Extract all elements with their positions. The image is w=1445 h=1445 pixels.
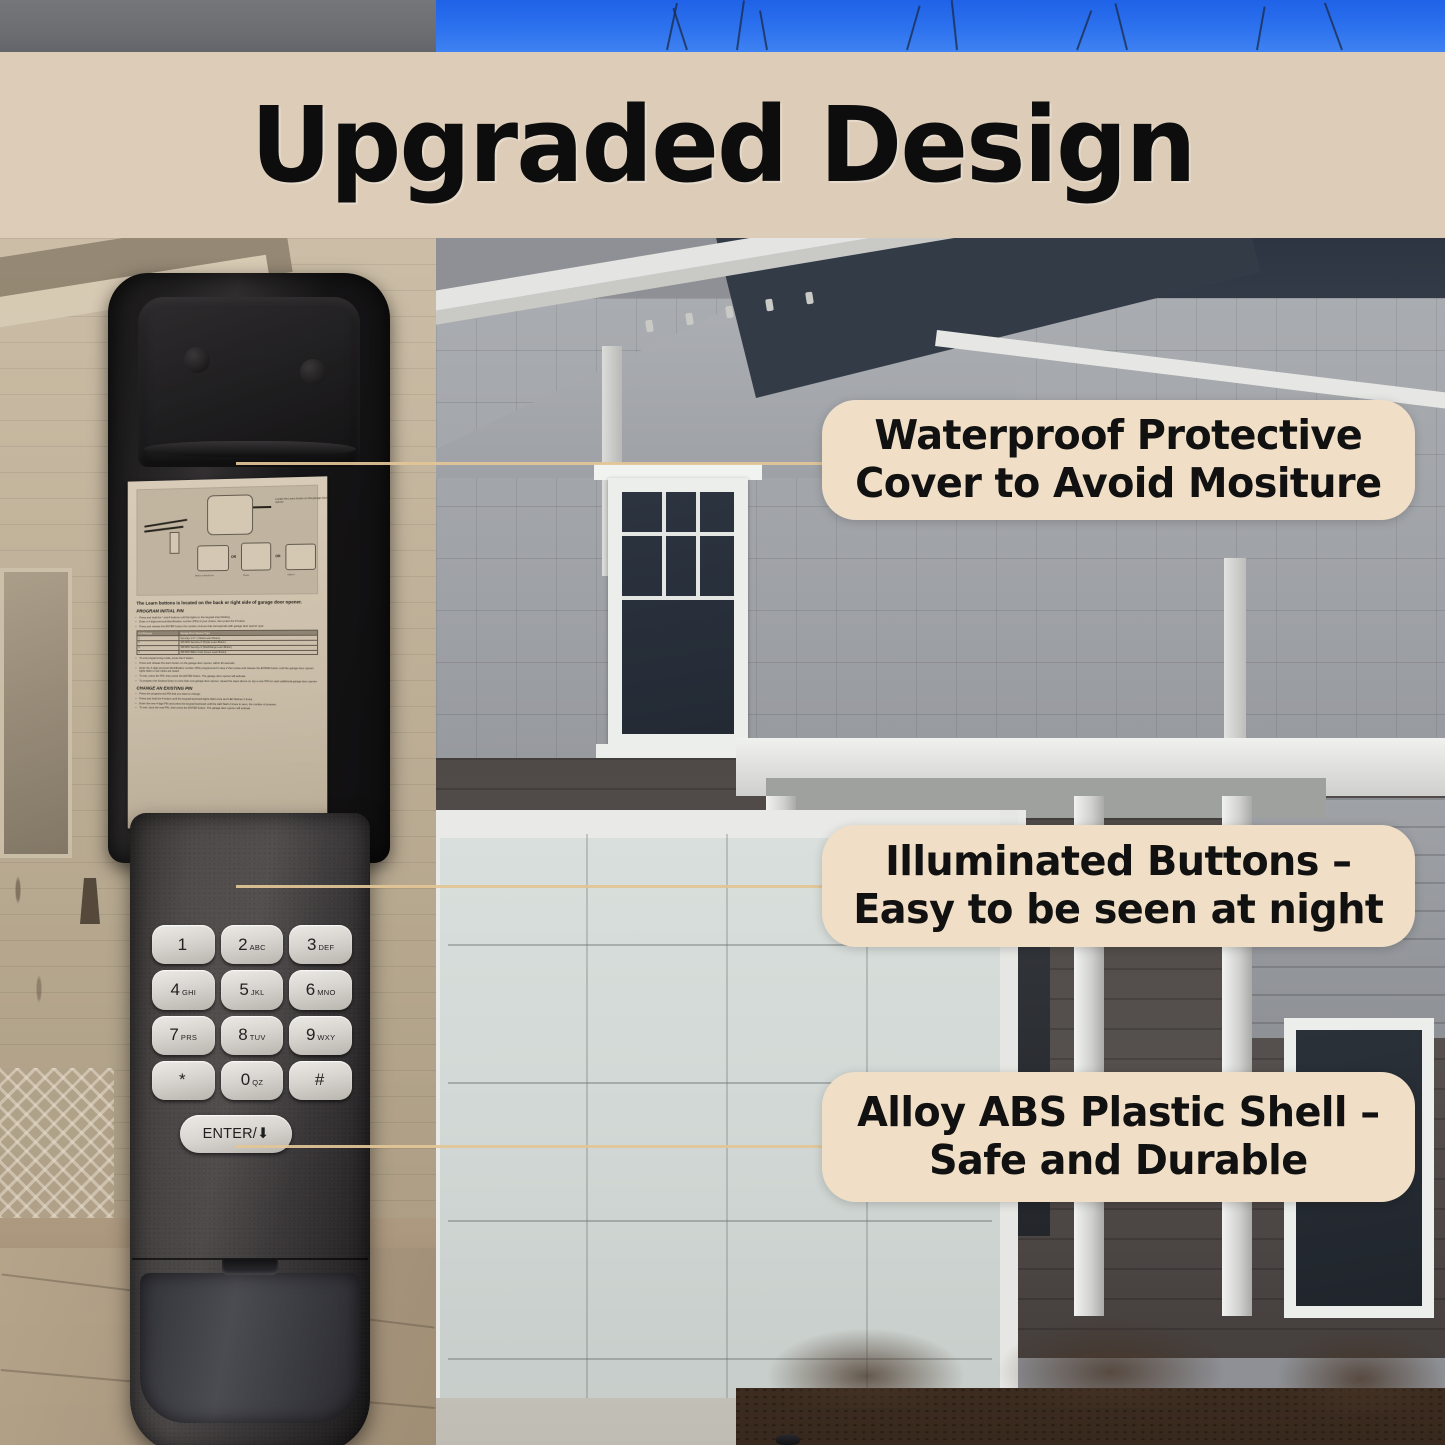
callout-waterproof-cover: Waterproof Protective Cover to Avoid Mos… (822, 400, 1415, 520)
key-1[interactable]: 1 (152, 925, 215, 964)
upper-window-glass (622, 492, 734, 734)
key-hash[interactable]: # (289, 1061, 352, 1100)
key-star[interactable]: * (152, 1061, 215, 1100)
window-mullion-v2 (696, 492, 700, 596)
roof-shadow-strip (0, 0, 436, 52)
callout-2-text: Illuminated Buttons – Easy to be seen at… (853, 838, 1383, 934)
left-warm-overlay (0, 238, 436, 1445)
key-7[interactable]: 7PRS (152, 1016, 215, 1055)
key-9[interactable]: 9WXY (289, 1016, 352, 1055)
window-mullion-v1 (662, 492, 666, 596)
bush-1 (766, 1328, 966, 1408)
key-2[interactable]: 2ABC (221, 925, 284, 964)
title-banner: Upgraded Design (0, 52, 1445, 238)
bush-2 (996, 1318, 1226, 1408)
key-6[interactable]: 6MNO (289, 970, 352, 1009)
battery-compartment (140, 1273, 360, 1423)
key-0[interactable]: 0QZ (221, 1061, 284, 1100)
key-8[interactable]: 8TUV (221, 1016, 284, 1055)
product-photo-panel: Locate the Learn button on the garage do… (0, 238, 436, 1445)
page-title: Upgraded Design (250, 93, 1194, 197)
callout-abs-shell: Alloy ABS Plastic Shell – Safe and Durab… (822, 1072, 1415, 1202)
key-4[interactable]: 4GHI (152, 970, 215, 1009)
key-5[interactable]: 5JKL (221, 970, 284, 1009)
key-3[interactable]: 3DEF (289, 925, 352, 964)
sky-strip (436, 0, 1445, 52)
window-mullion-h (622, 596, 734, 600)
battery-latch[interactable] (222, 1259, 278, 1275)
bush-3 (1276, 1328, 1445, 1413)
window-mullion-h2 (622, 532, 734, 536)
infographic-canvas: Upgraded Design (0, 0, 1445, 1445)
callout-1-text: Waterproof Protective Cover to Avoid Mos… (855, 412, 1381, 508)
upper-window (608, 478, 748, 748)
top-sliver-strip (0, 0, 1445, 52)
callout-illuminated-buttons: Illuminated Buttons – Easy to be seen at… (822, 825, 1415, 947)
callout-3-text: Alloy ABS Plastic Shell – Safe and Durab… (857, 1089, 1379, 1185)
keypad-button-grid: 1 2ABC 3DEF 4GHI 5JKL 6MNO 7PRS 8TUV 9WX… (152, 925, 352, 1100)
